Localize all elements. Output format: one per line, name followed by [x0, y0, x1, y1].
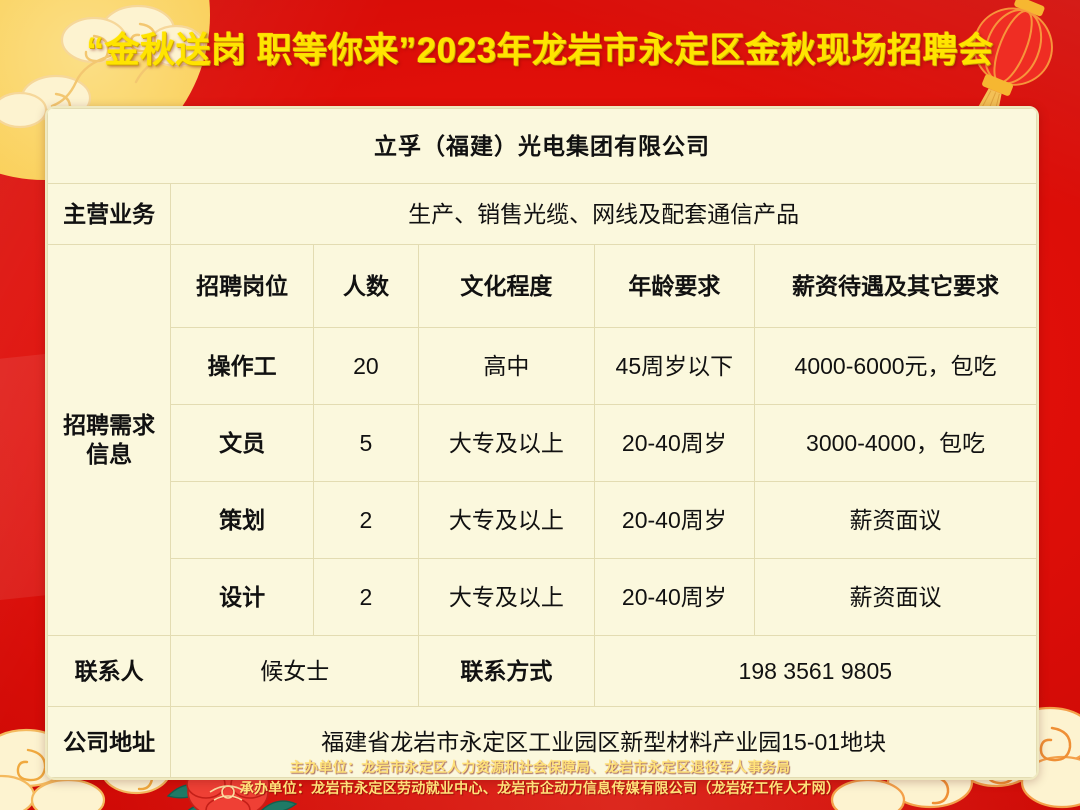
job-position: 设计 [171, 559, 313, 636]
recruitment-section-label-line2: 信息 [54, 440, 164, 469]
job-education: 大专及以上 [419, 482, 595, 559]
job-age: 20-40周岁 [594, 405, 754, 482]
job-headcount: 2 [313, 482, 418, 559]
page-title: “金秋送岗 职等你来”2023年龙岩市永定区金秋现场招聘会 [86, 22, 993, 73]
footer-organizer: 主办单位：龙岩市永定区人力资源和社会保障局、龙岩市永定区退役军人事务局 [0, 757, 1080, 779]
job-education: 大专及以上 [419, 405, 595, 482]
job-position: 操作工 [171, 328, 313, 405]
contact-person-value: 候女士 [171, 636, 419, 707]
job-salary: 薪资面议 [755, 559, 1037, 636]
job-headcount: 2 [313, 559, 418, 636]
poster-title-bar: “金秋送岗 职等你来”2023年龙岩市永定区金秋现场招聘会 [0, 22, 1080, 73]
job-age: 20-40周岁 [594, 559, 754, 636]
job-education: 高中 [419, 328, 595, 405]
column-header-headcount: 人数 [313, 245, 418, 328]
poster-footer: 主办单位：龙岩市永定区人力资源和社会保障局、龙岩市永定区退役军人事务局 承办单位… [0, 757, 1080, 800]
column-header-age: 年龄要求 [594, 245, 754, 328]
recruitment-table: 立孚（福建）光电集团有限公司 主营业务 生产、销售光缆、网线及配套通信产品 招聘… [47, 108, 1037, 778]
job-position: 策划 [171, 482, 313, 559]
table-row: 操作工 20 高中 45周岁以下 4000-6000元，包吃 [48, 328, 1037, 405]
recruitment-section-label: 招聘需求 信息 [48, 245, 171, 636]
job-salary: 3000-4000，包吃 [755, 405, 1037, 482]
contact-phone-value[interactable]: 198 3561 9805 [594, 636, 1036, 707]
column-header-salary: 薪资待遇及其它要求 [755, 245, 1037, 328]
info-card: 立孚（福建）光电集团有限公司 主营业务 生产、销售光缆、网线及配套通信产品 招聘… [45, 106, 1039, 780]
table-row: 策划 2 大专及以上 20-40周岁 薪资面议 [48, 482, 1037, 559]
contact-row: 联系人 候女士 联系方式 198 3561 9805 [48, 636, 1037, 707]
job-salary: 4000-6000元，包吃 [755, 328, 1037, 405]
business-row: 主营业务 生产、销售光缆、网线及配套通信产品 [48, 184, 1037, 245]
job-age: 45周岁以下 [594, 328, 754, 405]
table-header-row: 招聘需求 信息 招聘岗位 人数 文化程度 年龄要求 薪资待遇及其它要求 [48, 245, 1037, 328]
table-row: 文员 5 大专及以上 20-40周岁 3000-4000，包吃 [48, 405, 1037, 482]
job-position: 文员 [171, 405, 313, 482]
company-name: 立孚（福建）光电集团有限公司 [48, 109, 1037, 184]
company-name-row: 立孚（福建）光电集团有限公司 [48, 109, 1037, 184]
recruitment-poster: “金秋送岗 职等你来”2023年龙岩市永定区金秋现场招聘会 立孚（福建）光电集团… [0, 0, 1080, 810]
table-row: 设计 2 大专及以上 20-40周岁 薪资面议 [48, 559, 1037, 636]
recruitment-section-label-line1: 招聘需求 [54, 411, 164, 440]
contact-person-label: 联系人 [48, 636, 171, 707]
job-salary: 薪资面议 [755, 482, 1037, 559]
contact-method-label: 联系方式 [419, 636, 595, 707]
column-header-position: 招聘岗位 [171, 245, 313, 328]
business-value: 生产、销售光缆、网线及配套通信产品 [171, 184, 1037, 245]
footer-co-organizer: 承办单位：龙岩市永定区劳动就业中心、龙岩市企动力信息传媒有限公司（龙岩好工作人才… [0, 778, 1080, 800]
job-age: 20-40周岁 [594, 482, 754, 559]
job-headcount: 5 [313, 405, 418, 482]
business-label: 主营业务 [48, 184, 171, 245]
column-header-education: 文化程度 [419, 245, 595, 328]
job-education: 大专及以上 [419, 559, 595, 636]
job-headcount: 20 [313, 328, 418, 405]
